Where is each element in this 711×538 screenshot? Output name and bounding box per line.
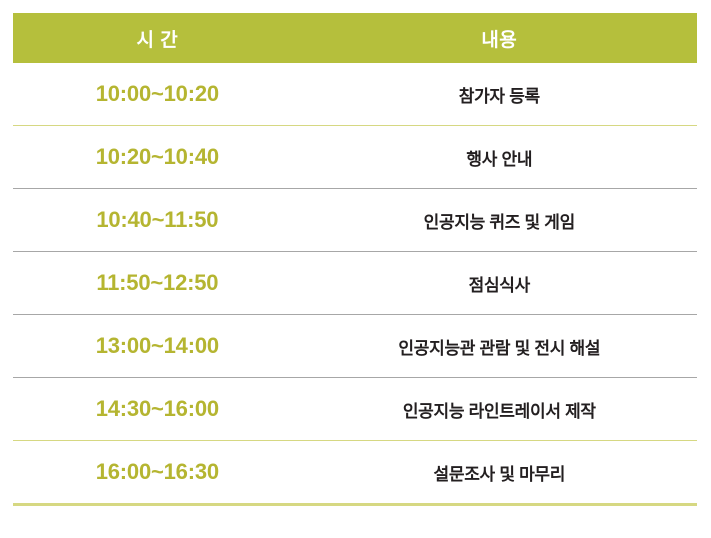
table-row: 16:00~16:30 설문조사 및 마무리 [13, 441, 697, 505]
cell-time: 11:50~12:50 [13, 252, 302, 315]
table-header: 시 간 내용 [13, 13, 697, 63]
cell-time: 13:00~14:00 [13, 315, 302, 378]
header-cell-detail: 내용 [302, 13, 697, 63]
schedule-container: 시 간 내용 10:00~10:20 참가자 등록 10:20~10:40 행사… [0, 0, 711, 538]
cell-detail: 참가자 등록 [302, 63, 697, 126]
cell-detail: 인공지능관 관람 및 전시 해설 [302, 315, 697, 378]
cell-time: 10:00~10:20 [13, 63, 302, 126]
cell-detail: 인공지능 퀴즈 및 게임 [302, 189, 697, 252]
table-row: 13:00~14:00 인공지능관 관람 및 전시 해설 [13, 315, 697, 378]
cell-detail: 점심식사 [302, 252, 697, 315]
cell-detail: 인공지능 라인트레이서 제작 [302, 378, 697, 441]
header-cell-time: 시 간 [13, 13, 302, 63]
table-row: 10:00~10:20 참가자 등록 [13, 63, 697, 126]
table-row: 10:20~10:40 행사 안내 [13, 126, 697, 189]
table-row: 11:50~12:50 점심식사 [13, 252, 697, 315]
table-row: 10:40~11:50 인공지능 퀴즈 및 게임 [13, 189, 697, 252]
cell-detail: 설문조사 및 마무리 [302, 441, 697, 505]
cell-detail: 행사 안내 [302, 126, 697, 189]
cell-time: 14:30~16:00 [13, 378, 302, 441]
table-body: 10:00~10:20 참가자 등록 10:20~10:40 행사 안내 10:… [13, 63, 697, 505]
cell-time: 10:20~10:40 [13, 126, 302, 189]
schedule-table: 시 간 내용 10:00~10:20 참가자 등록 10:20~10:40 행사… [13, 13, 697, 506]
table-row: 14:30~16:00 인공지능 라인트레이서 제작 [13, 378, 697, 441]
cell-time: 10:40~11:50 [13, 189, 302, 252]
cell-time: 16:00~16:30 [13, 441, 302, 505]
header-row: 시 간 내용 [13, 13, 697, 63]
